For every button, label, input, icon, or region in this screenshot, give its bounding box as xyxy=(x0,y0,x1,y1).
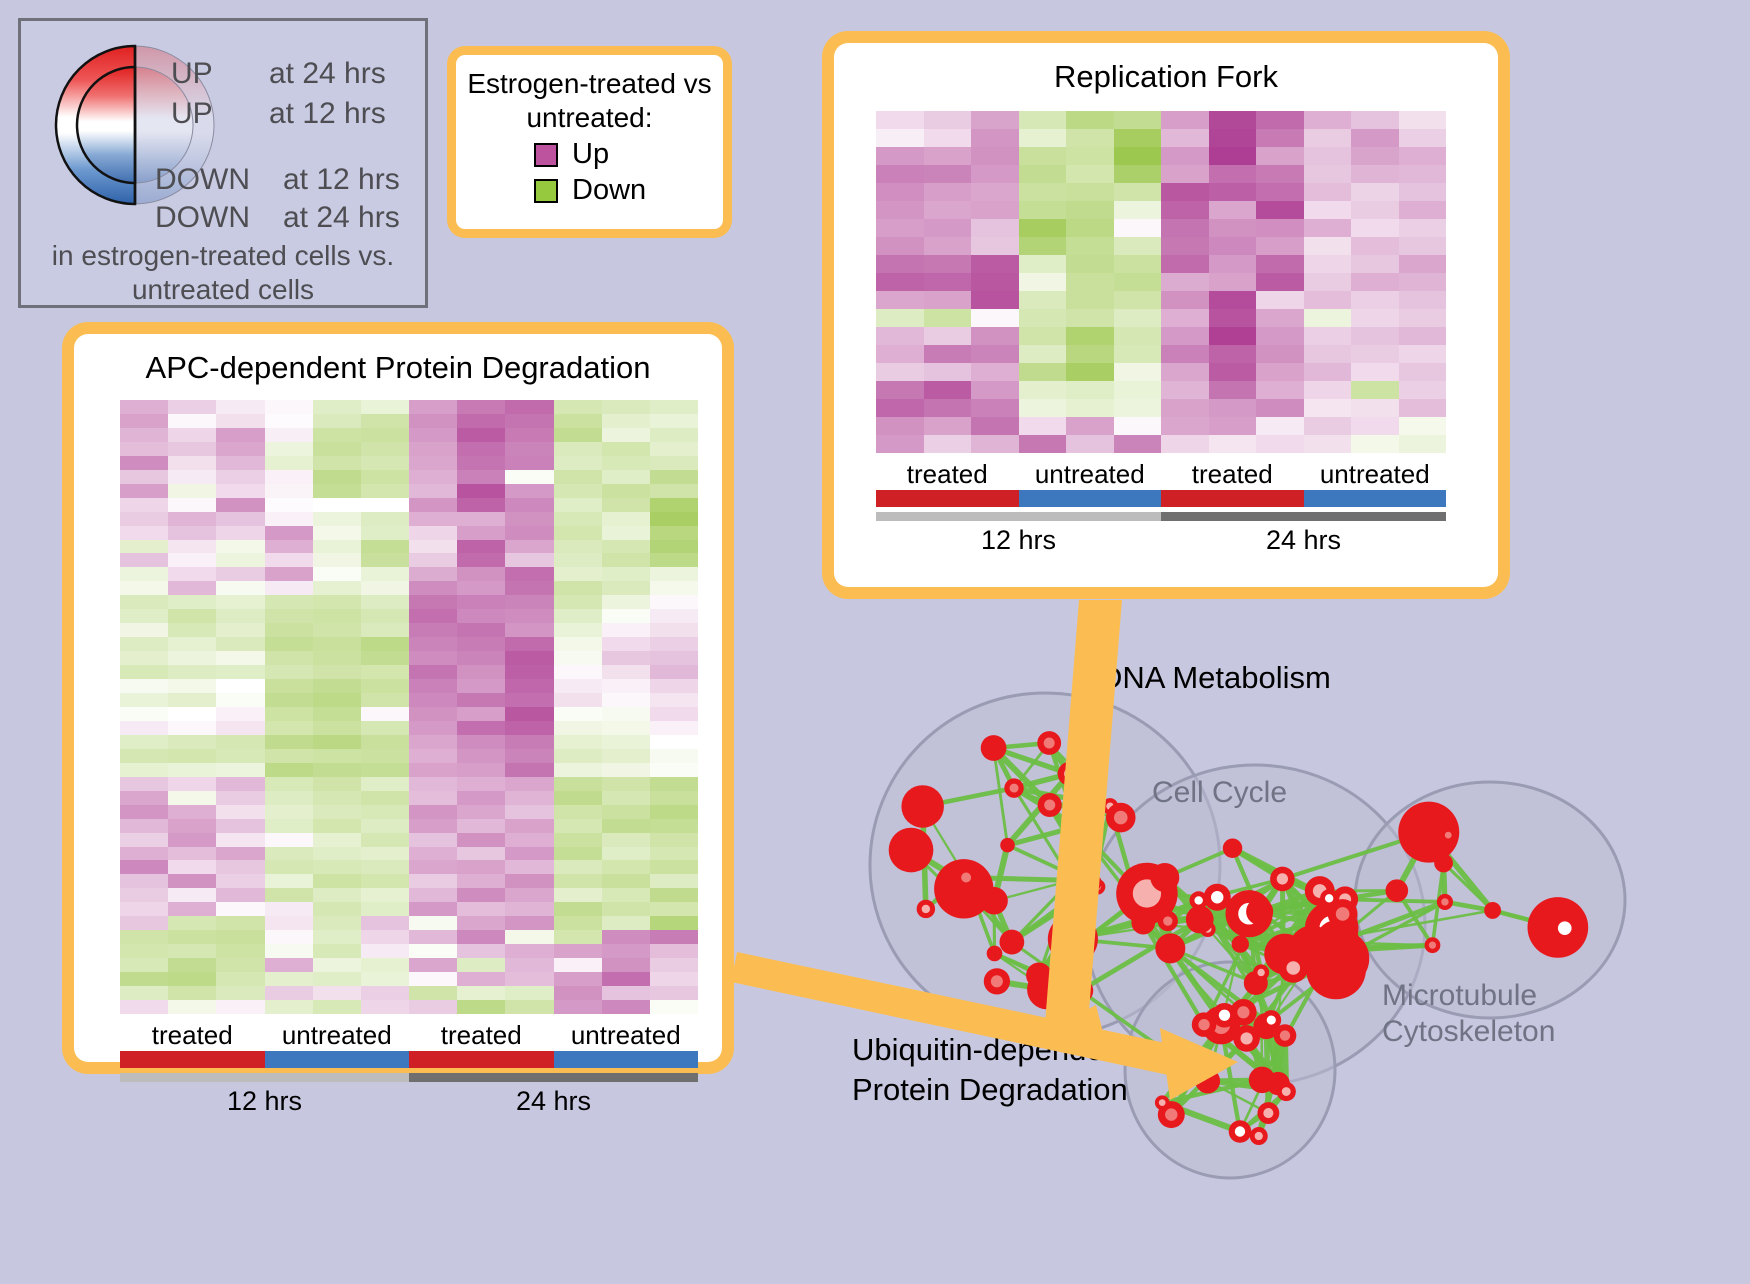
heat-cell xyxy=(505,400,553,414)
network-node[interactable] xyxy=(1437,894,1453,910)
heat-cell xyxy=(168,637,216,651)
heat-cell xyxy=(1256,111,1304,129)
key-row-0-right: at 24 hrs xyxy=(269,57,386,91)
heat-cell xyxy=(1114,183,1162,201)
heat-cell xyxy=(505,442,553,456)
network-node[interactable] xyxy=(1038,793,1062,817)
heat-cell xyxy=(554,874,602,888)
heat-cell xyxy=(265,791,313,805)
heat-cell xyxy=(216,958,264,972)
heat-cell xyxy=(602,819,650,833)
heat-cell xyxy=(876,417,924,435)
network-node[interactable] xyxy=(981,735,1007,761)
heat-cell xyxy=(409,860,457,874)
heat-cell xyxy=(1114,255,1162,273)
heat-cell xyxy=(457,609,505,623)
heat-cell xyxy=(602,707,650,721)
heat-cell xyxy=(120,400,168,414)
network-node[interactable] xyxy=(940,878,956,894)
heat-cell xyxy=(216,986,264,1000)
heat-cell xyxy=(1066,255,1114,273)
network-node[interactable] xyxy=(1048,914,1098,964)
heat-cell xyxy=(505,888,553,902)
heat-cell xyxy=(924,255,972,273)
heat-cell xyxy=(409,512,457,526)
heat-cell xyxy=(1066,417,1114,435)
heat-cell xyxy=(1161,255,1209,273)
heat-cell xyxy=(876,327,924,345)
heat-cell xyxy=(120,944,168,958)
heat-cell xyxy=(602,567,650,581)
heat-cell xyxy=(1209,399,1257,417)
heat-cell xyxy=(1304,417,1352,435)
axis-condition-bar xyxy=(120,1051,698,1068)
network-node[interactable] xyxy=(1223,838,1242,857)
heat-cell xyxy=(457,847,505,861)
network-node[interactable] xyxy=(980,887,1007,914)
heat-cell xyxy=(876,111,924,129)
network-node[interactable] xyxy=(1026,963,1052,989)
network-node[interactable] xyxy=(1233,1025,1260,1052)
heat-cell xyxy=(1399,291,1447,309)
panel-apc-degradation: APC-dependent Protein Degradation treate… xyxy=(62,322,734,1074)
heat-cell xyxy=(409,414,457,428)
network-node[interactable] xyxy=(1189,891,1207,909)
heat-cell xyxy=(313,721,361,735)
heat-cell xyxy=(216,902,264,916)
network-node[interactable] xyxy=(1158,911,1178,931)
heat-cell xyxy=(361,1000,409,1014)
heat-cell xyxy=(554,498,602,512)
heat-cell xyxy=(168,665,216,679)
heat-cell xyxy=(1161,309,1209,327)
heat-cell xyxy=(457,1000,505,1014)
heat-cell xyxy=(505,763,553,777)
heat-cell xyxy=(313,944,361,958)
heat-cell xyxy=(409,665,457,679)
heat-cell xyxy=(361,749,409,763)
network-node[interactable] xyxy=(1257,1102,1279,1124)
heat-cell xyxy=(971,399,1019,417)
heat-cell xyxy=(313,414,361,428)
heat-cell xyxy=(265,944,313,958)
heat-cell xyxy=(1209,327,1257,345)
heat-cell xyxy=(1161,363,1209,381)
heat-cell xyxy=(313,749,361,763)
heat-cell xyxy=(361,553,409,567)
heat-cell xyxy=(265,958,313,972)
heat-cell xyxy=(505,553,553,567)
heat-cell xyxy=(457,860,505,874)
heat-cell xyxy=(971,183,1019,201)
heat-cell xyxy=(168,456,216,470)
heat-cell xyxy=(1161,291,1209,309)
network-node[interactable] xyxy=(1065,814,1090,839)
heat-cell xyxy=(554,847,602,861)
heat-cell xyxy=(650,428,698,442)
heat-cell xyxy=(505,484,553,498)
heat-cell xyxy=(505,874,553,888)
network-node[interactable] xyxy=(999,930,1024,955)
heat-cell xyxy=(505,986,553,1000)
network-node[interactable] xyxy=(1204,884,1231,911)
heat-cell xyxy=(313,526,361,540)
heat-cell xyxy=(265,540,313,554)
heat-cell xyxy=(168,944,216,958)
heat-cell xyxy=(876,399,924,417)
heat-cell xyxy=(313,930,361,944)
heat-cell xyxy=(602,777,650,791)
heat-cell xyxy=(409,595,457,609)
heat-cell xyxy=(409,902,457,916)
heat-cell xyxy=(457,819,505,833)
network-node[interactable] xyxy=(1434,854,1453,873)
heat-cell xyxy=(602,540,650,554)
heat-cell xyxy=(554,637,602,651)
network-node[interactable] xyxy=(1150,863,1179,892)
heat-cell xyxy=(1066,381,1114,399)
heat-cell xyxy=(1351,417,1399,435)
heat-cell xyxy=(361,847,409,861)
network-node[interactable] xyxy=(1131,911,1155,935)
network-node[interactable] xyxy=(1275,944,1292,961)
heat-cell xyxy=(216,805,264,819)
heat-cell xyxy=(554,651,602,665)
network-node[interactable] xyxy=(889,828,934,873)
heat-cell xyxy=(313,958,361,972)
heat-cell xyxy=(265,512,313,526)
heat-cell xyxy=(650,540,698,554)
heat-cell xyxy=(313,470,361,484)
heat-cell xyxy=(457,833,505,847)
heat-cell xyxy=(361,972,409,986)
heat-cell xyxy=(409,986,457,1000)
heat-cell xyxy=(457,400,505,414)
network-node[interactable] xyxy=(1274,1024,1297,1047)
heat-cell xyxy=(1399,363,1447,381)
heat-cell xyxy=(602,735,650,749)
heat-cell xyxy=(265,888,313,902)
network-node[interactable] xyxy=(987,946,1003,962)
heat-cell xyxy=(505,581,553,595)
network-node[interactable] xyxy=(917,900,935,918)
color-key-box: UP at 24 hrs UP at 12 hrs DOWN at 12 hrs… xyxy=(18,18,428,308)
network-node[interactable] xyxy=(1037,731,1061,755)
axis-condition-label: treated xyxy=(876,459,1019,490)
heat-cell xyxy=(313,553,361,567)
network-node[interactable] xyxy=(1186,906,1214,934)
heat-cell xyxy=(361,679,409,693)
network-node[interactable] xyxy=(901,785,944,828)
network-node[interactable] xyxy=(1277,1082,1296,1101)
heat-cell xyxy=(313,595,361,609)
heat-cell xyxy=(120,972,168,986)
network-node[interactable] xyxy=(955,867,977,889)
network-node[interactable] xyxy=(1250,1127,1268,1145)
heat-cell xyxy=(650,693,698,707)
heat-cell xyxy=(409,735,457,749)
heat-cell xyxy=(1399,237,1447,255)
heat-cell xyxy=(168,1000,216,1014)
heat-cell xyxy=(602,749,650,763)
heat-cell xyxy=(1399,417,1447,435)
heat-cell xyxy=(554,540,602,554)
heat-cell xyxy=(361,484,409,498)
heat-cell xyxy=(409,623,457,637)
heat-cell xyxy=(409,679,457,693)
heat-cell xyxy=(265,805,313,819)
heat-cell xyxy=(650,623,698,637)
heat-cell xyxy=(265,428,313,442)
heat-cell xyxy=(1304,147,1352,165)
heat-cell xyxy=(216,888,264,902)
heat-cell xyxy=(457,442,505,456)
network-node[interactable] xyxy=(1270,867,1295,892)
heat-cell xyxy=(1019,417,1067,435)
heat-cell xyxy=(457,595,505,609)
heat-cell xyxy=(554,930,602,944)
heat-cell xyxy=(265,916,313,930)
heat-cell xyxy=(1399,399,1447,417)
network-node[interactable] xyxy=(1246,898,1273,925)
heat-cell xyxy=(602,637,650,651)
heat-cell xyxy=(650,400,698,414)
network-node[interactable] xyxy=(1068,978,1093,1003)
heat-cell xyxy=(602,456,650,470)
heat-cell xyxy=(1161,147,1209,165)
heat-cell xyxy=(265,833,313,847)
heat-cell xyxy=(216,498,264,512)
heat-cell xyxy=(1209,183,1257,201)
up-down-legend-title: Estrogen-treated vs untreated: xyxy=(456,67,723,135)
network-node[interactable] xyxy=(1086,875,1102,891)
heat-cell xyxy=(1209,237,1257,255)
network-node[interactable] xyxy=(1004,778,1023,797)
network-node[interactable] xyxy=(1328,899,1358,929)
heat-cell xyxy=(1019,345,1067,363)
heat-cell xyxy=(505,777,553,791)
heat-cell xyxy=(1399,273,1447,291)
heat-cell xyxy=(1399,147,1447,165)
heat-cell xyxy=(924,345,972,363)
heat-cell xyxy=(971,129,1019,147)
heat-cell xyxy=(554,735,602,749)
heat-cell xyxy=(602,470,650,484)
heat-cell xyxy=(554,721,602,735)
heat-cell xyxy=(650,791,698,805)
heat-cell xyxy=(602,400,650,414)
heat-cell xyxy=(361,944,409,958)
heat-cell xyxy=(1351,255,1399,273)
heat-cell xyxy=(216,749,264,763)
network-node[interactable] xyxy=(1253,964,1269,980)
heat-cell xyxy=(1209,165,1257,183)
heat-cell xyxy=(1114,417,1162,435)
heatmap-apc-degradation xyxy=(120,400,698,1014)
network-node[interactable] xyxy=(1550,913,1580,943)
heat-cell xyxy=(924,417,972,435)
heat-cell xyxy=(120,707,168,721)
heat-cell xyxy=(876,201,924,219)
heat-cell xyxy=(409,428,457,442)
heat-cell xyxy=(120,456,168,470)
heat-cell xyxy=(120,665,168,679)
network-node[interactable] xyxy=(1484,902,1501,919)
heat-cell xyxy=(602,484,650,498)
heat-cell xyxy=(554,819,602,833)
heat-cell xyxy=(216,665,264,679)
heat-cell xyxy=(554,400,602,414)
heat-cell xyxy=(602,679,650,693)
heat-cell xyxy=(971,345,1019,363)
heat-cell xyxy=(168,791,216,805)
network-node[interactable] xyxy=(1249,1067,1276,1094)
heat-cell xyxy=(1019,363,1067,381)
heat-cell xyxy=(168,526,216,540)
heat-cell xyxy=(168,484,216,498)
heat-cell xyxy=(313,763,361,777)
heat-cell xyxy=(168,958,216,972)
heat-cell xyxy=(168,553,216,567)
heat-cell xyxy=(457,498,505,512)
heat-cell xyxy=(216,637,264,651)
network-node[interactable] xyxy=(1155,1095,1170,1110)
heat-cell xyxy=(1256,345,1304,363)
heat-cell xyxy=(168,595,216,609)
heat-cell xyxy=(168,707,216,721)
network-node[interactable] xyxy=(1000,838,1015,853)
heat-cell xyxy=(120,623,168,637)
heat-cell xyxy=(168,512,216,526)
heat-cell xyxy=(602,791,650,805)
heat-cell xyxy=(361,735,409,749)
heat-cell xyxy=(1256,399,1304,417)
heat-cell xyxy=(265,860,313,874)
heat-cell xyxy=(971,237,1019,255)
heat-cell xyxy=(650,944,698,958)
heat-cell xyxy=(168,693,216,707)
heat-cell xyxy=(1019,111,1067,129)
heat-cell xyxy=(168,749,216,763)
heat-cell xyxy=(1351,237,1399,255)
heat-cell xyxy=(971,327,1019,345)
heat-cell xyxy=(216,791,264,805)
heat-cell xyxy=(876,345,924,363)
heat-cell xyxy=(924,165,972,183)
heat-cell xyxy=(1351,219,1399,237)
heat-cell xyxy=(216,1000,264,1014)
heat-cell xyxy=(216,930,264,944)
heat-cell xyxy=(505,805,553,819)
heat-cell xyxy=(1019,147,1067,165)
heat-cell xyxy=(1019,183,1067,201)
heatmap-replication-fork xyxy=(876,111,1446,453)
axis-condition-label: treated xyxy=(120,1020,265,1051)
network-node[interactable] xyxy=(1229,1120,1252,1143)
heat-cell xyxy=(457,707,505,721)
network-node[interactable] xyxy=(1386,879,1409,902)
heat-cell xyxy=(216,707,264,721)
heat-cell xyxy=(457,693,505,707)
heat-cell xyxy=(168,651,216,665)
heat-cell xyxy=(168,498,216,512)
heat-cell xyxy=(1161,183,1209,201)
heat-cell xyxy=(1399,381,1447,399)
heat-cell xyxy=(554,833,602,847)
heat-cell xyxy=(876,273,924,291)
heat-cell xyxy=(1114,399,1162,417)
heat-cell xyxy=(216,442,264,456)
network-node[interactable] xyxy=(1333,930,1348,945)
heat-cell xyxy=(1209,435,1257,453)
heat-cell xyxy=(1256,363,1304,381)
heat-cell xyxy=(1019,165,1067,183)
network-node[interactable] xyxy=(1425,937,1441,953)
heat-cell xyxy=(1304,273,1352,291)
key-row-3-left: DOWN xyxy=(155,201,250,235)
heat-cell xyxy=(505,428,553,442)
heat-cell xyxy=(168,567,216,581)
heat-cell xyxy=(361,986,409,1000)
heat-cell xyxy=(120,888,168,902)
heat-cell xyxy=(554,958,602,972)
heat-cell xyxy=(457,428,505,442)
heat-cell xyxy=(924,201,972,219)
network-node[interactable] xyxy=(1195,1069,1220,1094)
network-node[interactable] xyxy=(1232,935,1249,952)
network-node[interactable] xyxy=(984,968,1010,994)
heat-cell xyxy=(313,819,361,833)
heat-cell xyxy=(1304,129,1352,147)
heat-cell xyxy=(505,916,553,930)
heat-cell xyxy=(554,665,602,679)
network-node[interactable] xyxy=(1155,933,1185,963)
heat-cell xyxy=(313,651,361,665)
heat-cell xyxy=(313,456,361,470)
heat-cell xyxy=(1019,381,1067,399)
network-node[interactable] xyxy=(1441,828,1456,843)
heat-cell xyxy=(457,944,505,958)
legend-item-down: Down xyxy=(534,174,723,207)
heat-cell xyxy=(650,972,698,986)
heat-cell xyxy=(168,400,216,414)
heat-cell xyxy=(554,581,602,595)
heat-cell xyxy=(1114,219,1162,237)
heat-cell xyxy=(168,805,216,819)
heat-cell xyxy=(120,986,168,1000)
heat-cell xyxy=(409,721,457,735)
heat-cell xyxy=(650,847,698,861)
heat-cell xyxy=(876,183,924,201)
heat-cell xyxy=(554,623,602,637)
network-node[interactable] xyxy=(1057,866,1086,895)
heat-cell xyxy=(216,860,264,874)
heat-cell xyxy=(924,363,972,381)
heat-cell xyxy=(924,183,972,201)
heat-cell xyxy=(120,777,168,791)
heat-cell xyxy=(168,470,216,484)
network-node[interactable] xyxy=(1192,1012,1217,1037)
heat-cell xyxy=(361,721,409,735)
heat-cell xyxy=(265,819,313,833)
heat-cell xyxy=(602,553,650,567)
heat-cell xyxy=(216,567,264,581)
network-node[interactable] xyxy=(1106,803,1136,833)
network-node[interactable] xyxy=(1058,762,1082,786)
heat-cell xyxy=(554,763,602,777)
heat-cell xyxy=(409,498,457,512)
heat-cell xyxy=(1304,291,1352,309)
